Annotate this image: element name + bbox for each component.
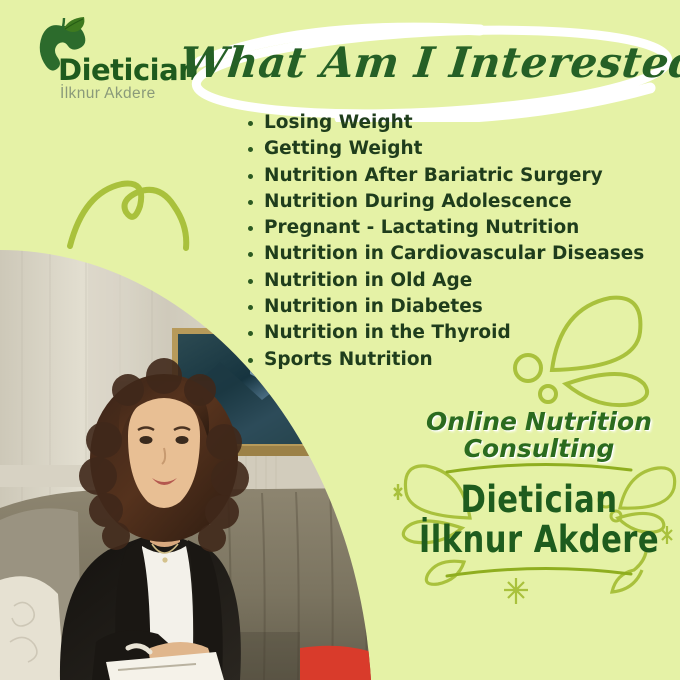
list-item: Pregnant - Lactating Nutrition [246, 215, 666, 241]
signature-title: Dietician [409, 480, 668, 520]
list-item: Nutrition in Old Age [246, 268, 666, 294]
list-item: Nutrition in Diabetes [246, 294, 666, 320]
list-item: Losing Weight [246, 110, 666, 136]
loop-swirl-flourish-icon [64, 162, 204, 252]
signature-block: Dietician İlknur Akdere [398, 462, 680, 578]
list-item: Getting Weight [246, 136, 666, 162]
curved-divider-icon [439, 566, 639, 578]
page-title-text: What Am I Interested In [177, 38, 680, 87]
list-item: Nutrition in Cardiovascular Diseases [246, 241, 666, 267]
list-item: Nutrition After Bariatric Surgery [246, 163, 666, 189]
signature-name: İlknur Akdere [409, 520, 668, 560]
list-item: Nutrition in the Thyroid [246, 320, 666, 346]
poster-canvas: Dietician İlknur Akdere What Am I Intere… [0, 0, 680, 680]
list-item: Sports Nutrition [246, 347, 666, 373]
service-prefix: Online [426, 407, 517, 436]
service-headline: Online Nutrition Consulting [398, 408, 680, 462]
page-title: What Am I Interested In [180, 22, 680, 122]
brand-logo: Dietician İlknur Akdere [26, 16, 186, 108]
logo-subtitle: İlknur Akdere [60, 86, 156, 102]
curved-divider-icon [439, 462, 639, 474]
interest-list: Losing Weight Getting Weight Nutrition A… [246, 110, 666, 373]
list-item: Nutrition During Adolescence [246, 189, 666, 215]
signature-text: Dietician İlknur Akdere [409, 480, 668, 560]
